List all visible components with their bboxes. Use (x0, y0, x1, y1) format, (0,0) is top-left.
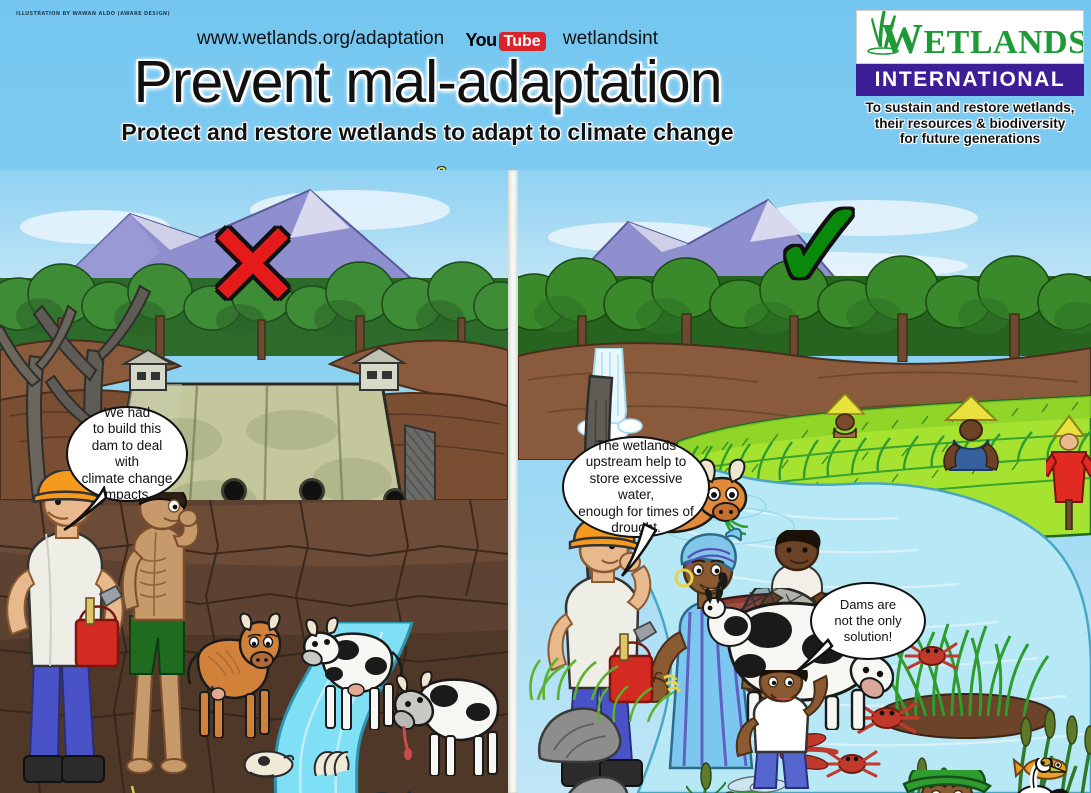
youtube-you-text: You (465, 30, 496, 50)
speech-bubble-tail (60, 486, 110, 534)
page-subtitle: Protect and restore wetlands to adapt to… (0, 118, 855, 146)
logo-tagline-line2: their resources & biodiversity (856, 116, 1084, 132)
bubble-line: not the only (834, 613, 901, 629)
bubble-line: Dams are (834, 597, 901, 613)
verdict-cross-icon: ✕ (206, 210, 300, 322)
logo-international-band: INTERNATIONAL (856, 64, 1084, 96)
bubble-line: climate change (78, 471, 176, 488)
website-url[interactable]: www.wetlands.org/adaptation (197, 28, 444, 49)
logo-tagline: To sustain and restore wetlands, their r… (856, 100, 1084, 147)
header-links: www.wetlands.org/adaptation YouTube wetl… (0, 28, 855, 51)
verdict-check-icon: ✓ (770, 186, 871, 306)
page-title: Prevent mal-adaptation (0, 50, 855, 114)
animal-skull (240, 748, 296, 780)
bubble-line: dam to deal with (78, 438, 176, 471)
panel-wetland-restoration: ✓ The wetlands upstream help to store ex… (518, 170, 1091, 793)
cow-black-white-drinking (386, 660, 508, 776)
illustration-credit: ILLUSTRATION BY WAWAN ALDO (AWARE DESIGN… (16, 11, 170, 17)
goat (696, 588, 758, 650)
paddy-worker (936, 392, 1006, 472)
youtube-logo[interactable]: YouTube (465, 30, 545, 51)
rib-bones (310, 748, 354, 778)
bubble-line: upstream help to (574, 454, 698, 471)
logo-tagline-line1: To sustain and restore wetlands, (856, 100, 1084, 116)
bubble-line: We had (78, 405, 176, 422)
scarecrow (1046, 410, 1091, 530)
logo-tagline-line3: for future generations (856, 131, 1084, 147)
bubble-line: enough for times of (574, 504, 698, 521)
speech-bubble-tail (794, 636, 834, 676)
villager-figure (104, 492, 214, 793)
speech-bubble-tail (610, 522, 660, 580)
paddy-worker (818, 388, 872, 438)
bubble-line: to build this (78, 421, 176, 438)
bubble-line: store excessive water, (574, 471, 698, 504)
logo-wordmark: WETLANDS (881, 16, 1084, 64)
bubble-line: The wetlands (574, 438, 698, 455)
speech-bubble-boy-text: Dams are not the only solution! (834, 597, 901, 645)
logo-etlands-letters: ETLANDS (924, 24, 1085, 61)
logo-w-letter: W (881, 17, 924, 63)
wetlands-international-logo[interactable]: WETLANDS INTERNATIONAL To sustain and re… (856, 10, 1084, 147)
dam-tower (350, 346, 408, 392)
water-cattail (686, 760, 726, 793)
boy-figure (728, 670, 838, 793)
dead-fish (356, 788, 412, 793)
poster-root: ILLUSTRATION BY WAWAN ALDO (AWARE DESIGN… (0, 0, 1091, 793)
logo-top-band: WETLANDS (856, 10, 1084, 64)
youtube-handle[interactable]: wetlandsint (563, 28, 658, 49)
planting-man-figure (876, 770, 1026, 793)
panel-mal-adaptation: ✕ We had to build this dam to deal with … (0, 170, 508, 793)
bubble-line: solution! (834, 629, 901, 645)
rock (560, 770, 630, 793)
panel-divider (508, 170, 518, 793)
grass-tuft (588, 670, 678, 722)
